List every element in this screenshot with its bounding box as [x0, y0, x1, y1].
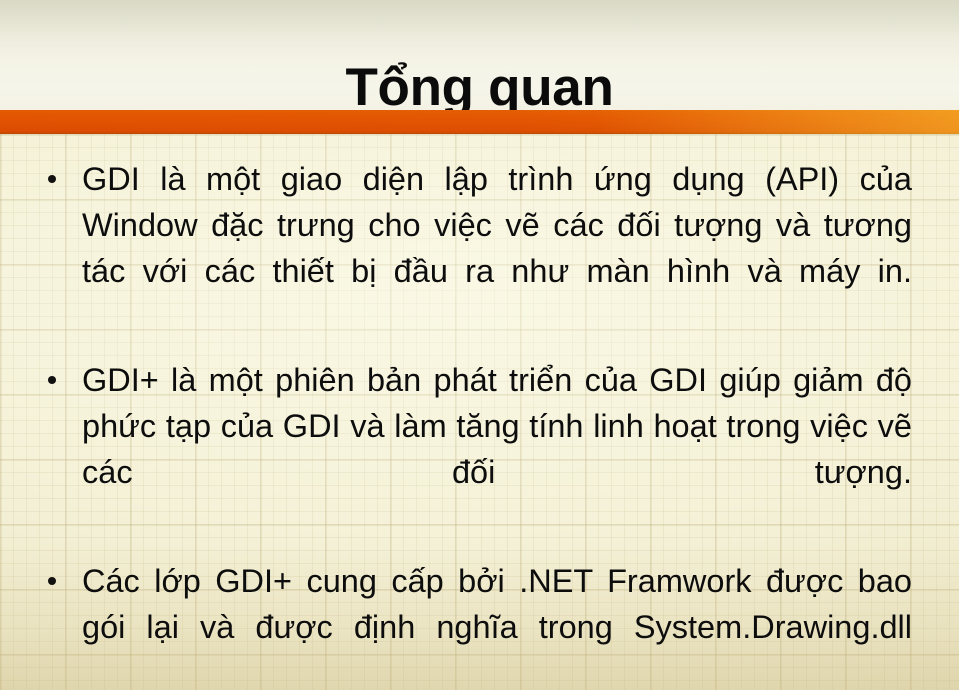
list-item: GDI là một giao diện lập trình ứng dụng …	[40, 156, 912, 340]
bullet-dot-icon	[48, 175, 56, 183]
orange-divider-bar	[0, 110, 959, 134]
bullet-list: GDI là một giao diện lập trình ứng dụng …	[40, 156, 912, 690]
list-item: Các lớp GDI+ cung cấp bởi .NET Framwork …	[40, 558, 912, 690]
list-item-text: GDI là một giao diện lập trình ứng dụng …	[82, 156, 912, 340]
slide-content: GDI là một giao diện lập trình ứng dụng …	[0, 134, 959, 690]
list-item: GDI+ là một phiên bản phát triển của GDI…	[40, 357, 912, 541]
list-item-text: Các lớp GDI+ cung cấp bởi .NET Framwork …	[82, 558, 912, 690]
bullet-dot-icon	[48, 376, 56, 384]
list-item-text: GDI+ là một phiên bản phát triển của GDI…	[82, 357, 912, 541]
presentation-slide: Tổng quan GDI là một giao diện lập trình…	[0, 0, 959, 690]
bullet-dot-icon	[48, 577, 56, 585]
